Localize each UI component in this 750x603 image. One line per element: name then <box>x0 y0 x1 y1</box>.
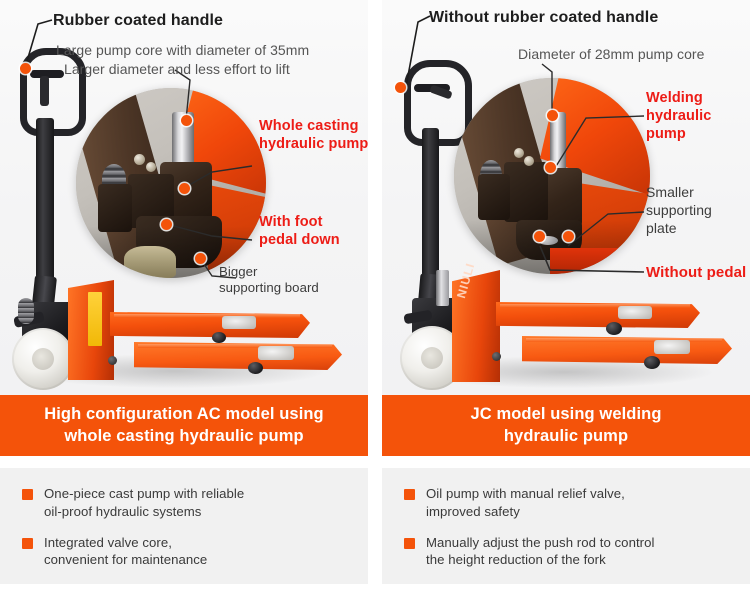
leader-lines-left <box>0 0 368 395</box>
annotation-supporting-plate-line3-right: plate <box>646 220 677 237</box>
bullet-square-icon <box>22 538 33 549</box>
annotation-supporting-board-line2-left: supporting board <box>219 280 319 296</box>
panel-right-jc-model: NIULI <box>382 0 750 603</box>
banner-right-line2: hydraulic pump <box>470 426 661 448</box>
hotspot-welding-pump-right <box>545 162 556 173</box>
bullet-square-icon <box>404 538 415 549</box>
annotation-pump-core-line2-left: Larger diameter and less effort to lift <box>64 61 290 78</box>
hotspot-supporting-plate-right <box>563 231 574 242</box>
banner-left: High configuration AC model using whole … <box>0 395 368 456</box>
hotspot-handle-right <box>395 82 406 93</box>
bullet-right-1-line1: Oil pump with manual relief valve, <box>426 485 625 503</box>
panel-left-ac-model: Rubber coated handle Large pump core wit… <box>0 0 368 603</box>
bullet-left-2-line2: convenient for maintenance <box>44 551 207 569</box>
list-item: Oil pump with manual relief valve, impro… <box>404 485 736 521</box>
annotation-casting-pump-line1-left: Whole casting <box>259 118 359 136</box>
hotspot-no-pedal-right <box>534 231 545 242</box>
annotation-welding-pump-line3-right: pump <box>646 126 686 144</box>
banner-left-line1: High configuration AC model using <box>44 404 324 426</box>
annotation-without-pedal-right: Without pedal <box>646 264 746 282</box>
list-item: One-piece cast pump with reliable oil-pr… <box>22 485 354 521</box>
annotation-handle-right: Without rubber coated handle <box>429 8 658 28</box>
photo-zone-left: Rubber coated handle Large pump core wit… <box>0 0 368 395</box>
bullet-list-right: Oil pump with manual relief valve, impro… <box>382 468 750 584</box>
bullet-left-2-line1: Integrated valve core, <box>44 534 207 552</box>
annotation-supporting-plate-line2-right: supporting <box>646 202 712 219</box>
annotation-welding-pump-line2-right: hydraulic <box>646 108 711 126</box>
photo-zone-right: NIULI <box>382 0 750 395</box>
bullet-left-1-line1: One-piece cast pump with reliable <box>44 485 244 503</box>
bullet-right-1-line2: improved safety <box>426 503 625 521</box>
annotation-supporting-board-line1-left: Bigger <box>219 264 257 280</box>
bullet-left-1-line2: oil-proof hydraulic systems <box>44 503 244 521</box>
hotspot-casting-pump-left <box>179 183 190 194</box>
comparison-infographic: Rubber coated handle Large pump core wit… <box>0 0 750 603</box>
bullet-right-2-line1: Manually adjust the push rod to control <box>426 534 654 552</box>
list-item: Integrated valve core, convenient for ma… <box>22 534 354 570</box>
annotation-welding-pump-line1-right: Welding <box>646 90 703 108</box>
hotspot-supporting-board-left <box>195 253 206 264</box>
annotation-casting-pump-line2-left: hydraulic pump <box>259 136 368 154</box>
bullet-list-left: One-piece cast pump with reliable oil-pr… <box>0 468 368 584</box>
annotation-pump-core-line1-left: Large pump core with diameter of 35mm <box>56 42 309 59</box>
hotspot-handle-left <box>20 63 31 74</box>
banner-right-line1: JC model using welding <box>470 404 661 426</box>
annotation-foot-pedal-line1-left: With foot <box>259 214 323 232</box>
bullet-right-2-line2: the height reduction of the fork <box>426 551 654 569</box>
banner-right: JC model using welding hydraulic pump <box>382 395 750 456</box>
hotspot-pump-core-left <box>181 115 192 126</box>
banner-left-line2: whole casting hydraulic pump <box>44 426 324 448</box>
annotation-foot-pedal-line2-left: pedal down <box>259 232 340 250</box>
hotspot-pump-core-right <box>547 110 558 121</box>
hotspot-foot-pedal-left <box>161 219 172 230</box>
bullet-square-icon <box>404 489 415 500</box>
list-item: Manually adjust the push rod to control … <box>404 534 736 570</box>
annotation-supporting-plate-line1-right: Smaller <box>646 184 694 201</box>
annotation-handle-left: Rubber coated handle <box>53 11 223 31</box>
bullet-square-icon <box>22 489 33 500</box>
annotation-pump-core-right: Diameter of 28mm pump core <box>518 46 704 63</box>
